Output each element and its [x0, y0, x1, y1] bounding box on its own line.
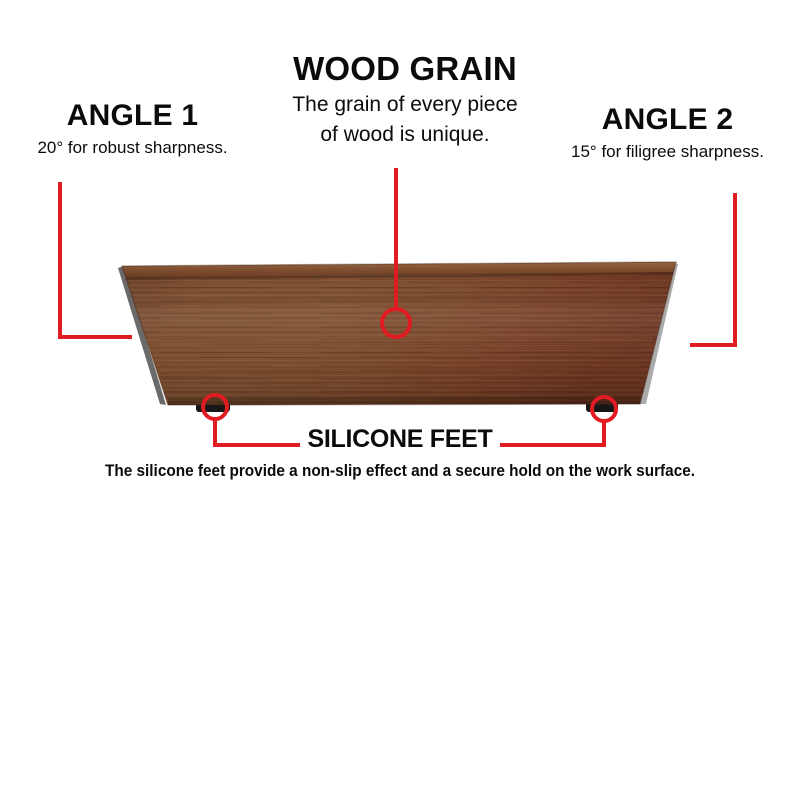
callout-angle-1: ANGLE 1 20° for robust sharpness.	[0, 100, 265, 158]
wood-block-body	[110, 258, 690, 410]
callout-silicone-feet-title: SILICONE FEET	[300, 425, 500, 454]
callout-angle-2-title: ANGLE 2	[535, 104, 800, 136]
callout-wood-grain-description-line-2: of wood is unique.	[255, 122, 555, 148]
leader-line-angle-1	[60, 182, 132, 337]
callout-wood-grain: WOOD GRAIN The grain of every piece of w…	[255, 52, 555, 148]
silicone-feet-caption: The silicone feet provide a non-slip eff…	[28, 462, 772, 481]
callout-angle-1-description: 20° for robust sharpness.	[0, 138, 265, 159]
leader-line-foot-right	[494, 421, 604, 445]
callout-wood-grain-title: WOOD GRAIN	[255, 52, 555, 87]
leader-line-angle-2	[690, 193, 735, 345]
callout-angle-1-title: ANGLE 1	[0, 100, 265, 132]
leader-line-foot-left	[215, 419, 312, 445]
callout-wood-grain-description-line-1: The grain of every piece	[255, 92, 555, 118]
infographic-canvas: ANGLE 1 20° for robust sharpness. WOOD G…	[0, 0, 800, 800]
callout-angle-2-description: 15° for filigree sharpness.	[535, 142, 800, 163]
callout-angle-2: ANGLE 2 15° for filigree sharpness.	[535, 104, 800, 162]
